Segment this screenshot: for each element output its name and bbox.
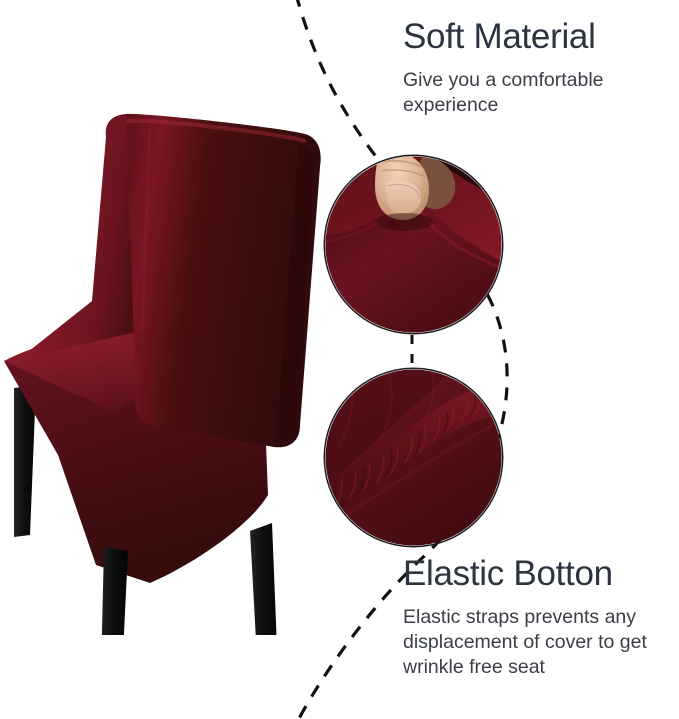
feature-heading-soft-material: Soft Material bbox=[403, 16, 673, 58]
feature-body-elastic-bottom: Elastic straps prevents any displacement… bbox=[403, 605, 673, 680]
soft-material-photo bbox=[325, 156, 502, 333]
feature-heading-elastic-bottom: Elastic Botton bbox=[403, 553, 673, 595]
product-infographic-page: Soft Material Give you a comfortable exp… bbox=[0, 0, 679, 719]
detail-circle-elastic-bottom bbox=[325, 369, 502, 546]
detail-circle-soft-material bbox=[325, 156, 502, 333]
feature-text-soft-material: Soft Material Give you a comfortable exp… bbox=[403, 16, 673, 118]
circle-connector-dashes bbox=[410, 335, 414, 367]
feature-text-elastic-bottom: Elastic Botton Elastic straps prevents a… bbox=[403, 553, 673, 680]
feature-body-soft-material: Give you a comfortable experience bbox=[403, 68, 673, 118]
chair-illustration bbox=[0, 95, 330, 635]
elastic-bottom-photo bbox=[325, 369, 502, 546]
